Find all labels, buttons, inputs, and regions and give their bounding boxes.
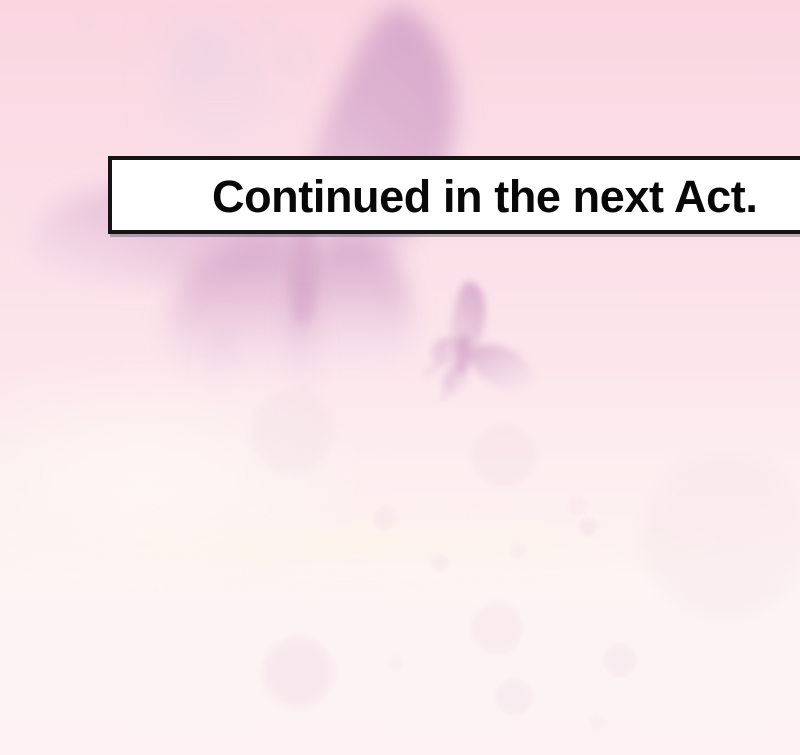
bubble (510, 543, 526, 559)
bubble (471, 602, 523, 654)
caption-text: Continued in the next Act. (112, 174, 757, 219)
bubble (568, 496, 588, 516)
bubble (642, 452, 800, 618)
bubble (75, 12, 95, 32)
bubble (250, 390, 334, 474)
episode-end-panel: Continued in the next Act. (0, 0, 800, 755)
bubble (263, 22, 279, 38)
bubble (579, 518, 597, 536)
bubble (170, 30, 230, 90)
bubble (496, 679, 532, 715)
bubble-layer (0, 0, 800, 755)
bubble (263, 637, 333, 707)
bubble (431, 554, 449, 572)
bubble (387, 655, 403, 671)
bubble (590, 715, 604, 729)
bubble (91, 141, 105, 155)
bubble (255, 4, 281, 30)
bubble (373, 507, 397, 531)
bubble (126, 49, 144, 67)
bubble (472, 424, 536, 488)
bubble (160, 40, 270, 150)
bubble (603, 643, 637, 677)
caption-box: Continued in the next Act. (108, 156, 800, 234)
bubble (269, 28, 323, 82)
